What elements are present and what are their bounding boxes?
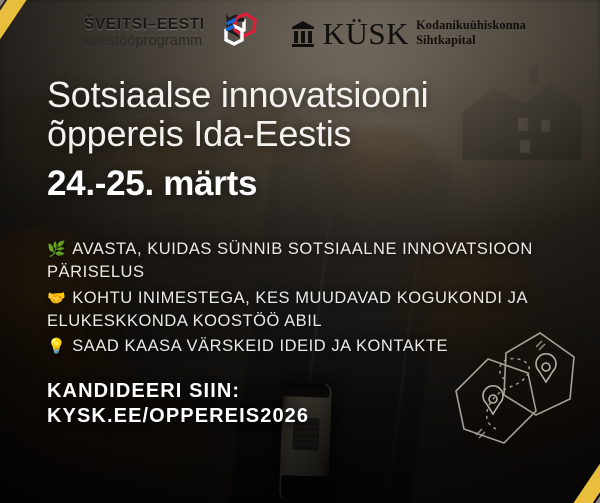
swiss-logo-line1: ŠVEITSI–EESTI xyxy=(84,17,205,33)
list-item: 🌿AVASTA, KUIDAS SÜNNIB SOTSIAALNE INNOVA… xyxy=(47,238,560,285)
swiss-logo-text: ŠVEITSI–EESTI koostööprogramm xyxy=(84,17,205,49)
list-item-text: AVASTA, KUIDAS SÜNNIB SOTSIAALNE INNOVAT… xyxy=(47,240,533,281)
pillar-building-mark xyxy=(290,18,316,48)
benefits-list: 🌿AVASTA, KUIDAS SÜNNIB SOTSIAALNE INNOVA… xyxy=(47,238,560,359)
list-item-text: KOHTU INIMESTEGA, KES MUUDAVAD KOGUKONDI… xyxy=(47,289,527,330)
swiss-estonian-logo: ŠVEITSI–EESTI koostööprogramm xyxy=(84,10,260,56)
swiss-logo-line2: koostööprogramm xyxy=(84,34,205,49)
call-to-action[interactable]: KANDIDEERI SIIN: KYSK.EE/OPPEREIS2026 xyxy=(47,379,560,429)
kusk-subtitle-line2: Sihtkapital xyxy=(416,33,526,48)
poster-content: Sotsiaalse innovatsiooni õppereis Ida-Ee… xyxy=(47,76,560,429)
list-item: 🤝KOHTU INIMESTEGA, KES MUUDAVAD KOGUKOND… xyxy=(47,287,560,334)
cta-url[interactable]: KYSK.EE/OPPEREIS2026 xyxy=(47,404,560,429)
kusk-wordmark: KÜSK xyxy=(323,18,409,49)
kusk-subtitle-line1: Kodanikuühiskonna xyxy=(416,18,526,33)
promo-poster: ŠVEITSI–EESTI koostööprogramm xyxy=(0,0,600,503)
list-item: 💡SAAD KAASA VÄRSKEID IDEID JA KONTAKTE xyxy=(47,335,560,358)
kusk-subtitle: Kodanikuühiskonna Sihtkapital xyxy=(416,18,526,47)
seedling-icon: 🌿 xyxy=(47,240,66,258)
page-title: Sotsiaalse innovatsiooni õppereis Ida-Ee… xyxy=(47,76,560,154)
headline-line2: õppereis Ida-Eestis xyxy=(47,113,351,154)
lightbulb-icon: 💡 xyxy=(47,337,66,355)
kusk-logo: KÜSK Kodanikuühiskonna Sihtkapital xyxy=(290,18,526,49)
interlocking-hexagons-mark xyxy=(214,10,260,56)
event-date: 24.-25. märts xyxy=(47,164,560,204)
handshake-icon: 🤝 xyxy=(47,289,66,307)
logo-bar: ŠVEITSI–EESTI koostööprogramm xyxy=(0,0,600,66)
cta-label: KANDIDEERI SIIN: xyxy=(47,379,560,404)
headline-line1: Sotsiaalse innovatsiooni xyxy=(47,74,428,115)
list-item-text: SAAD KAASA VÄRSKEID IDEID JA KONTAKTE xyxy=(72,337,448,355)
